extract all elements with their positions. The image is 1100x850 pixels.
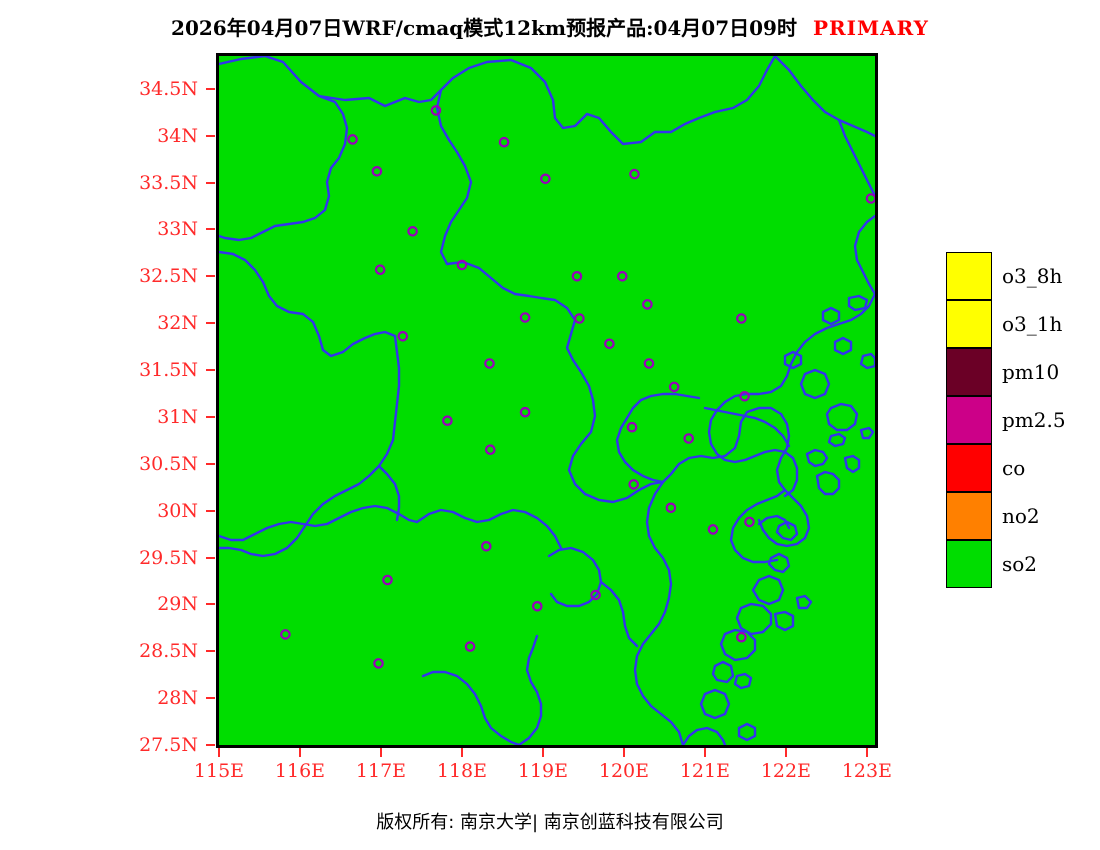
y-axis-label: 32N — [106, 312, 198, 334]
y-axis-tick — [206, 275, 215, 277]
y-axis-label: 33.5N — [106, 172, 198, 194]
y-axis-label: 32.5N — [106, 265, 198, 287]
legend-row-o3_1h[interactable]: o3_1h — [946, 300, 992, 348]
y-axis-tick — [206, 369, 215, 371]
legend-row-o3_8h[interactable]: o3_8h — [946, 252, 992, 300]
legend-row-pm10[interactable]: pm10 — [946, 348, 992, 396]
y-axis-tick — [206, 463, 215, 465]
x-axis-label: 122E — [746, 760, 826, 782]
y-axis-label: 30N — [106, 500, 198, 522]
map-plot-area — [216, 53, 878, 748]
x-axis-tick — [380, 748, 382, 757]
legend-label: o3_8h — [1002, 264, 1062, 288]
x-axis-label: 120E — [584, 760, 664, 782]
y-axis-label: 30.5N — [106, 453, 198, 475]
x-axis-label: 121E — [665, 760, 745, 782]
legend-row-no2[interactable]: no2 — [946, 492, 992, 540]
y-axis-label: 31.5N — [106, 359, 198, 381]
title-main-text: 2026年04月07日WRF/cmaq模式12km预报产品:04月07日09时 — [171, 16, 797, 40]
land-fill-so2 — [219, 56, 875, 745]
x-axis-tick — [785, 748, 787, 757]
y-axis-tick — [206, 88, 215, 90]
x-axis-label: 123E — [827, 760, 907, 782]
x-axis-label: 119E — [503, 760, 583, 782]
legend-swatch — [946, 396, 992, 444]
x-axis-tick — [461, 748, 463, 757]
x-axis-label: 116E — [260, 760, 340, 782]
y-axis-tick — [206, 322, 215, 324]
legend-row-pm2-5[interactable]: pm2.5 — [946, 396, 992, 444]
legend-swatch — [946, 540, 992, 588]
legend-label: o3_1h — [1002, 312, 1062, 336]
legend-swatch — [946, 300, 992, 348]
y-axis-tick — [206, 744, 215, 746]
copyright-footer: 版权所有: 南京大学| 南京创蓝科技有限公司 — [0, 808, 1100, 834]
y-axis-label: 31N — [106, 406, 198, 428]
y-axis-tick — [206, 650, 215, 652]
x-axis-tick — [542, 748, 544, 757]
legend-row-so2[interactable]: so2 — [946, 540, 992, 588]
legend-row-co[interactable]: co — [946, 444, 992, 492]
x-axis-label: 117E — [341, 760, 421, 782]
y-axis-label: 28N — [106, 687, 198, 709]
pollutant-legend: o3_8ho3_1hpm10pm2.5cono2so2 — [946, 252, 992, 588]
legend-label: no2 — [1002, 504, 1040, 528]
legend-swatch — [946, 492, 992, 540]
y-axis-label: 29N — [106, 593, 198, 615]
forecast-map-page: 2026年04月07日WRF/cmaq模式12km预报产品:04月07日09时P… — [0, 0, 1100, 850]
y-axis-label: 28.5N — [106, 640, 198, 662]
legend-label: so2 — [1002, 552, 1037, 576]
y-axis-label: 33N — [106, 218, 198, 240]
x-axis-label: 118E — [422, 760, 502, 782]
y-axis-label: 34.5N — [106, 78, 198, 100]
legend-label: pm2.5 — [1002, 408, 1066, 432]
page-title: 2026年04月07日WRF/cmaq模式12km预报产品:04月07日09时P… — [0, 12, 1100, 41]
y-axis-label: 27.5N — [106, 734, 198, 756]
y-axis-tick — [206, 603, 215, 605]
y-axis-label: 34N — [106, 125, 198, 147]
legend-swatch — [946, 252, 992, 300]
y-axis-label: 29.5N — [106, 547, 198, 569]
title-primary-tag: PRIMARY — [813, 16, 929, 40]
y-axis-tick — [206, 510, 215, 512]
y-axis-tick — [206, 697, 215, 699]
x-axis-tick — [623, 748, 625, 757]
legend-swatch — [946, 348, 992, 396]
x-axis-label: 115E — [179, 760, 259, 782]
x-axis-tick — [866, 748, 868, 757]
x-axis-tick — [299, 748, 301, 757]
map-canvas — [219, 56, 875, 745]
legend-swatch — [946, 444, 992, 492]
y-axis-tick — [206, 182, 215, 184]
legend-label: pm10 — [1002, 360, 1059, 384]
x-axis-tick — [218, 748, 220, 757]
y-axis-tick — [206, 135, 215, 137]
y-axis-tick — [206, 416, 215, 418]
y-axis-tick — [206, 228, 215, 230]
legend-label: co — [1002, 456, 1025, 480]
y-axis-tick — [206, 557, 215, 559]
x-axis-tick — [704, 748, 706, 757]
